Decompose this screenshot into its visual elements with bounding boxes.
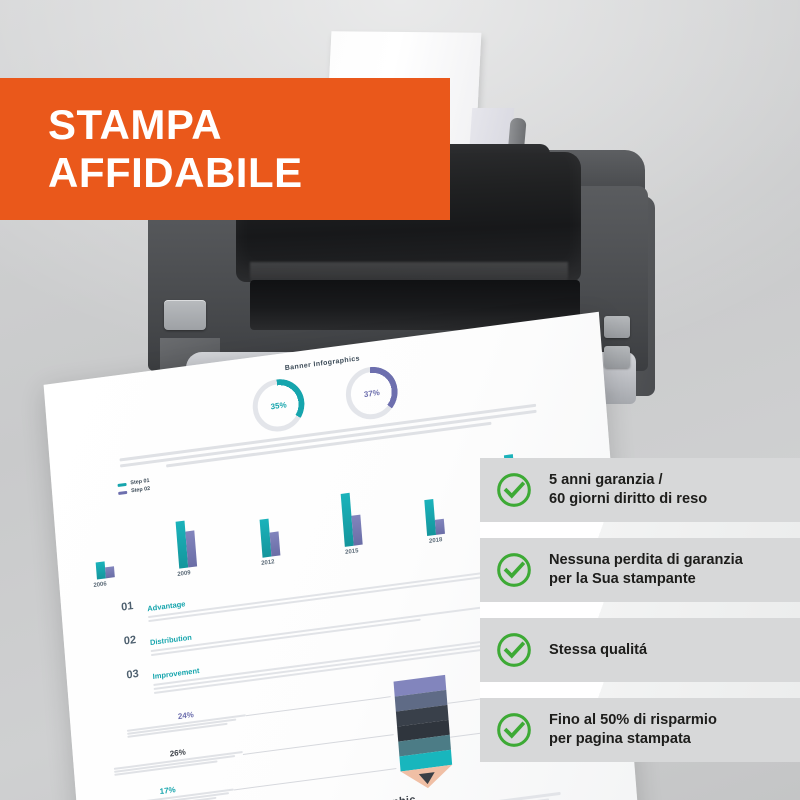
feature-label: Fino al 50% di risparmio per pagina stam… [549,711,717,748]
feature-gap [480,522,800,538]
printer-side-button-2[interactable] [604,346,630,368]
pencil-stat: 24% [126,703,247,739]
bar [351,514,362,546]
bar-group [259,511,329,558]
donut-chart-2: 37% [344,364,400,423]
poster-canvas: Banner Infographics 35% 37% [0,0,800,800]
bar [186,530,198,568]
feature-label: Stessa qualitá [549,641,647,660]
pencil-stat: 26% [113,740,244,778]
feature-label: 5 anni garanzia / 60 giorni diritto di r… [549,471,707,508]
pencil-graphic [394,675,454,792]
donut-value: 37% [344,364,400,423]
headline-line-1: STAMPA [48,101,222,148]
step-number: 02 [123,634,141,648]
donut-value: 35% [251,376,307,435]
pencil-tip [419,772,436,785]
legend-label: Step 02 [131,486,150,494]
step-number: 01 [121,599,139,613]
donut-chart-1: 35% [251,376,307,435]
step-title: Advantage [147,599,186,613]
check-circle-icon [496,712,532,748]
step-title: Distribution [150,633,192,647]
check-circle-icon [496,632,532,668]
printer-side-button-1[interactable] [604,316,630,338]
bar-group [176,513,247,569]
bar [105,567,115,579]
feature-item-same-quality[interactable]: Stessa qualitá [480,618,800,682]
headline-line-2: AFFIDABILE [48,149,303,196]
bar [269,531,280,556]
feature-gap [480,682,800,698]
feature-item-warranty[interactable]: 5 anni garanzia / 60 giorni diritto di r… [480,458,800,522]
feature-item-savings[interactable]: Fino al 50% di risparmio per pagina stam… [480,698,800,762]
headline-banner: STAMPA AFFIDABILE [0,78,450,220]
printer-power-button[interactable] [164,300,206,330]
step-number: 03 [126,668,144,682]
feature-label: Nessuna perdita di garanzia per la Sua s… [549,551,743,588]
bar [424,498,436,536]
feature-gap [480,602,800,618]
pencil-stat: 17% [102,778,234,800]
check-circle-icon [496,552,532,588]
legend-swatch [117,482,126,486]
check-circle-icon [496,472,532,508]
legend-label: Step 01 [130,478,149,486]
headline: STAMPA AFFIDABILE [48,101,450,197]
feature-item-no-warranty-loss[interactable]: Nessuna perdita di garanzia per la Sua s… [480,538,800,602]
bar-group [340,485,411,547]
legend-swatch [118,490,127,494]
bar [435,519,445,535]
